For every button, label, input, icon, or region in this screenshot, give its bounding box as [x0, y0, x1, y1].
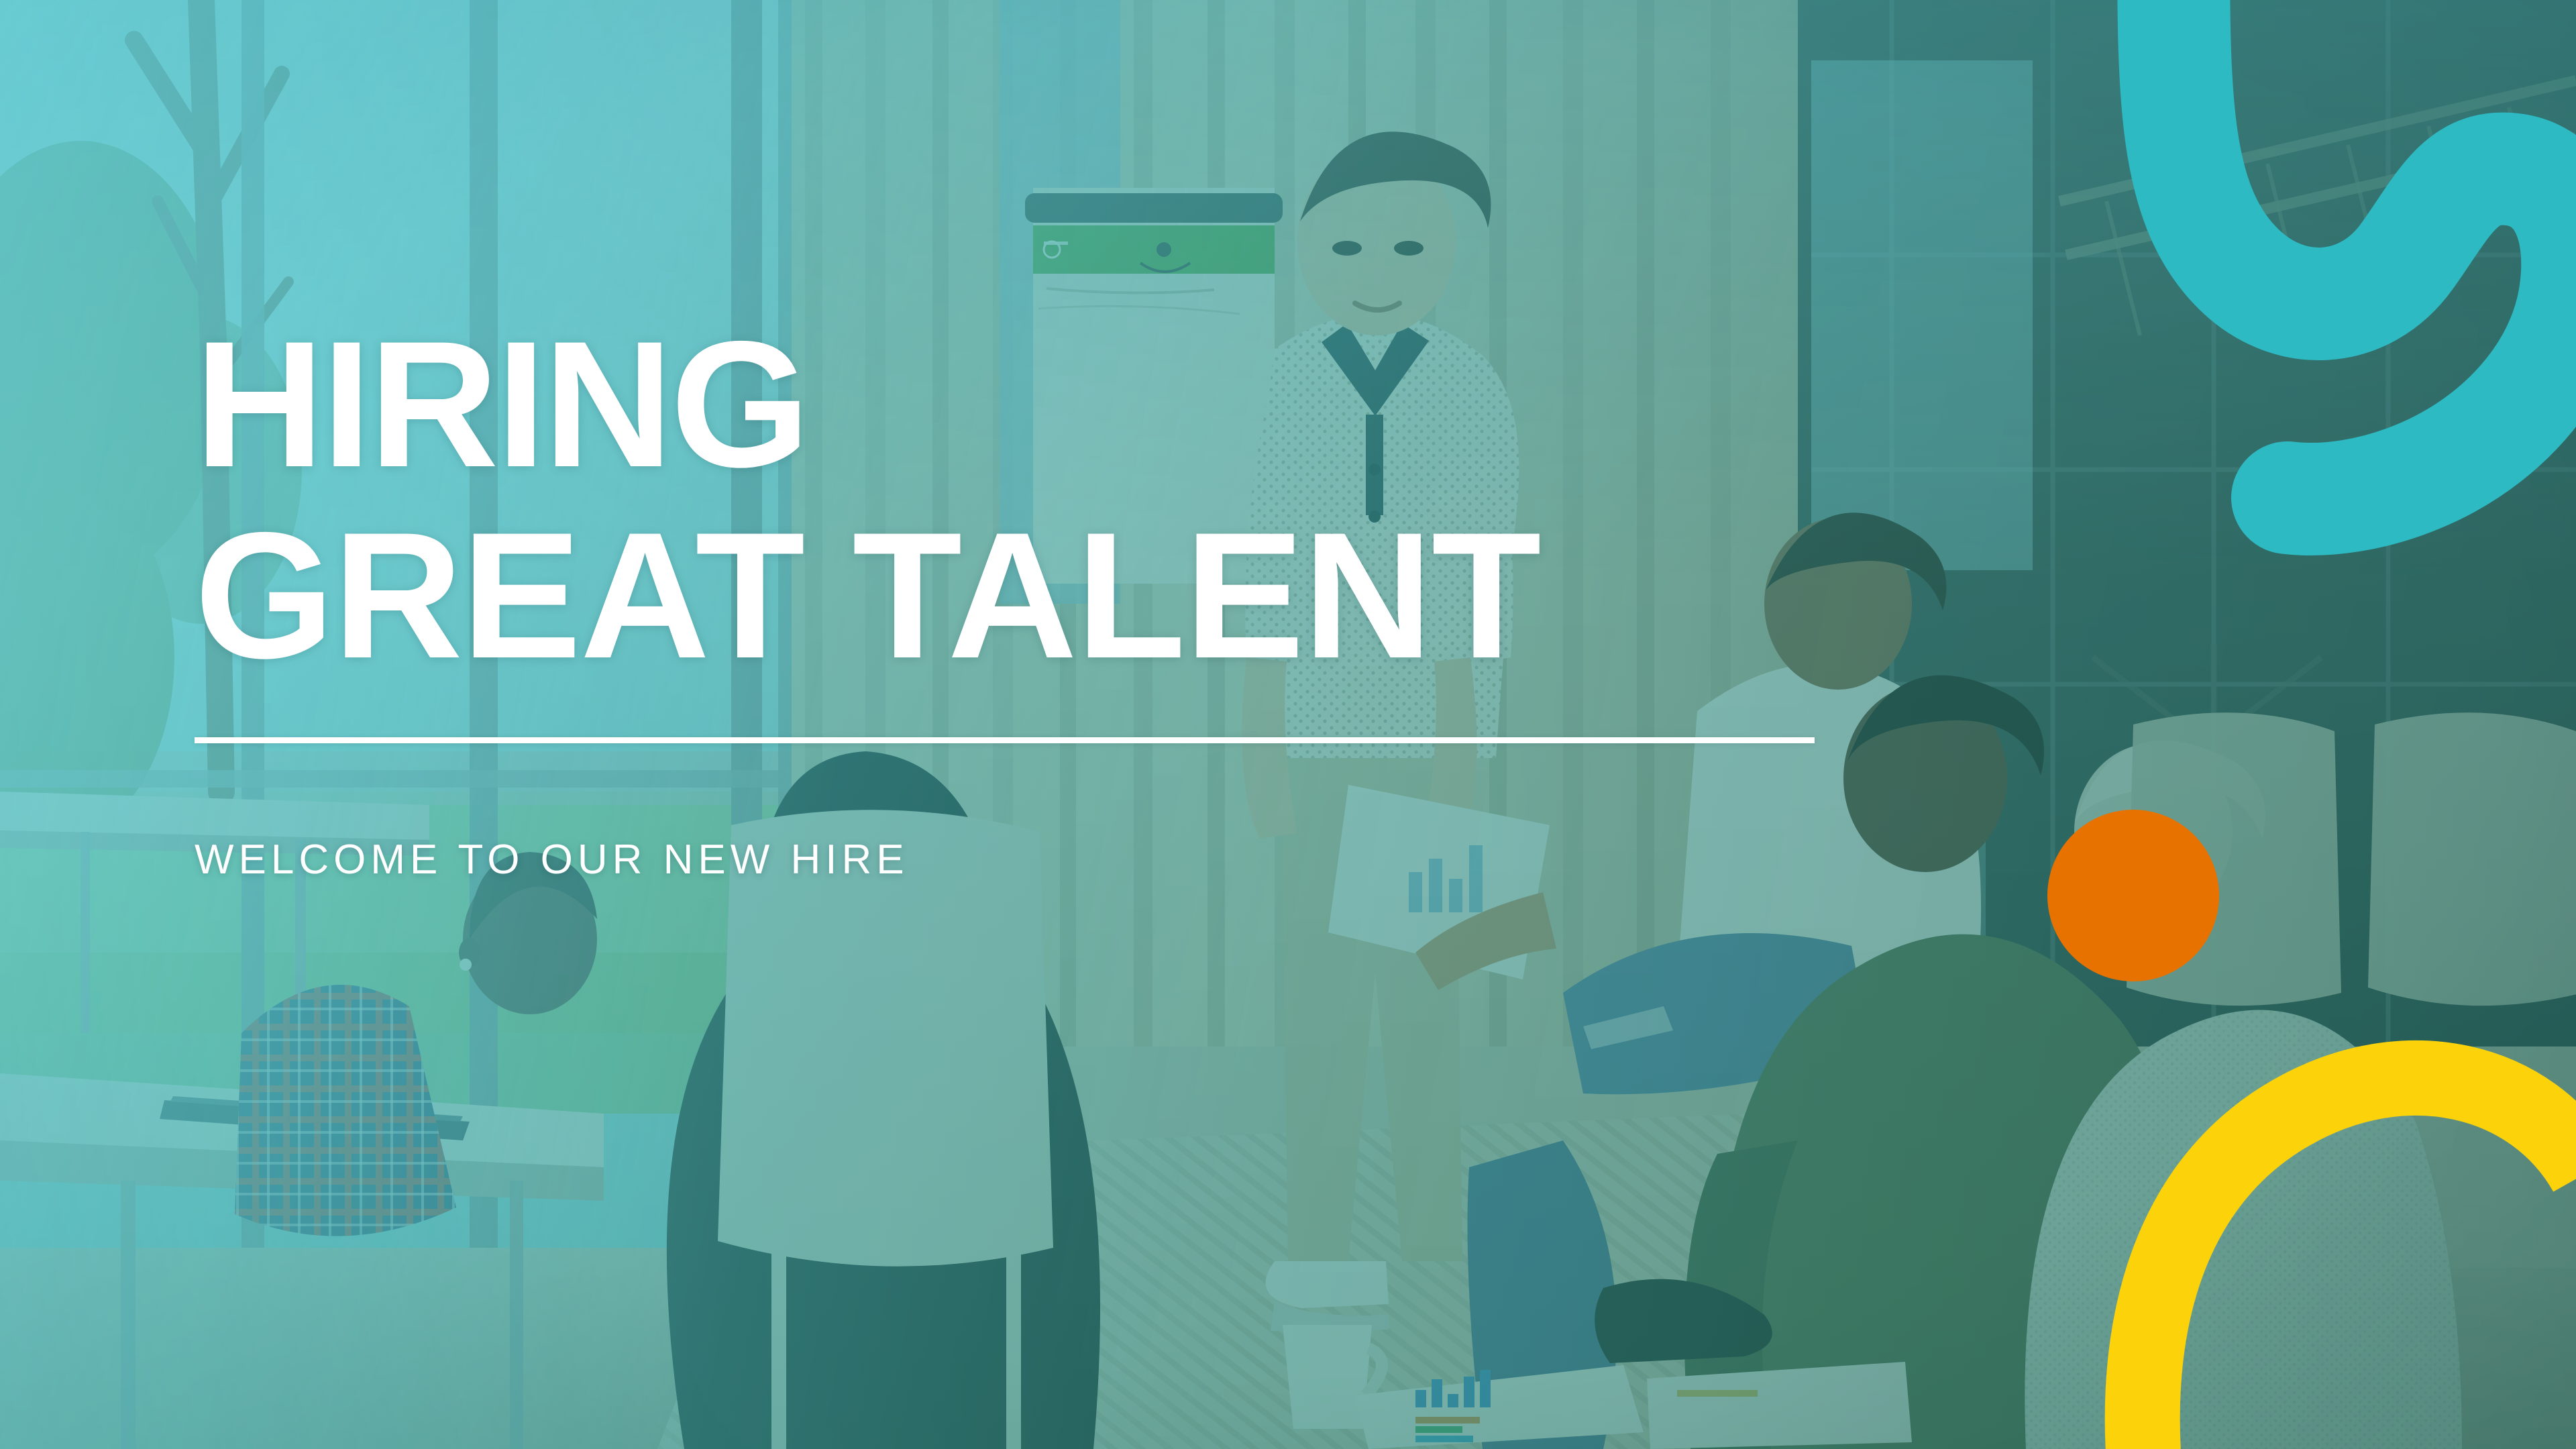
title-divider-rule [195, 737, 1815, 743]
banner-copy-block: HIRING GREAT TALENT WELCOME TO OUR NEW H… [195, 315, 1912, 883]
yellow-arc-icon [2116, 1030, 2576, 1449]
page-title: HIRING GREAT TALENT [195, 315, 1912, 685]
teal-squiggle-icon [1972, 0, 2576, 483]
headline-line-1: HIRING [195, 315, 1912, 493]
banner-subtitle: WELCOME TO OUR NEW HIRE [195, 836, 1912, 883]
hiring-banner: HIRING GREAT TALENT WELCOME TO OUR NEW H… [0, 0, 2576, 1449]
headline-line-2: GREAT TALENT [195, 506, 1912, 684]
orange-circle-icon [2039, 802, 2227, 989]
